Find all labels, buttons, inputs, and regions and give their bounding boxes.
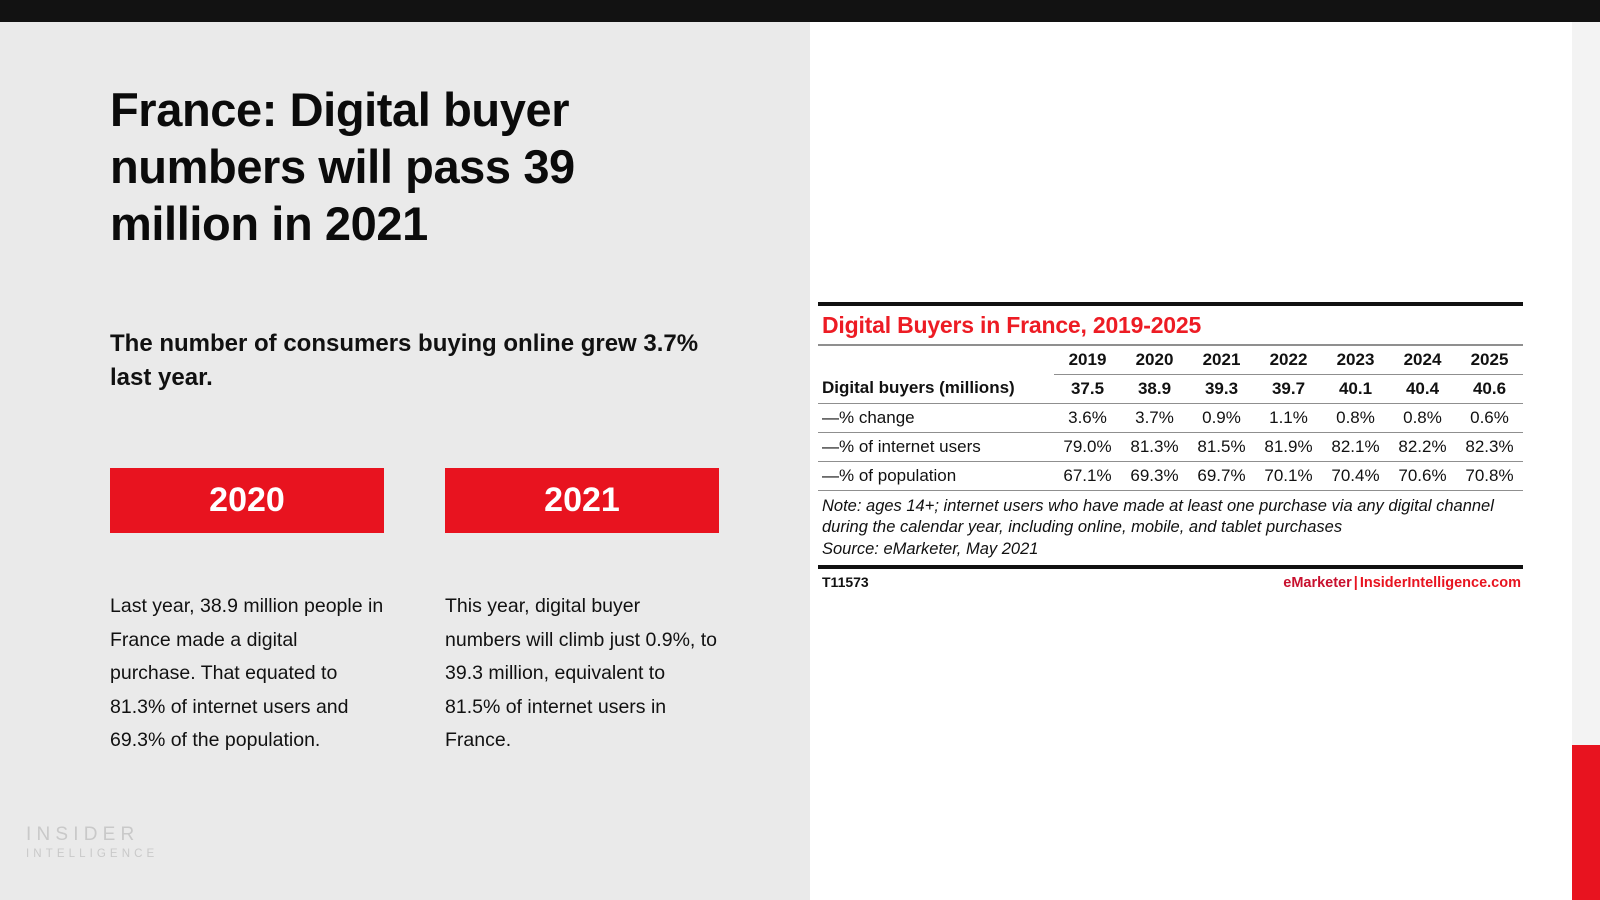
table-row: —% of internet users 79.0% 81.3% 81.5% 8… (818, 432, 1523, 461)
cell-pct-change-2021: 0.9% (1188, 403, 1255, 432)
table-col-header-2023: 2023 (1322, 346, 1389, 375)
table-row: —% of population 67.1% 69.3% 69.7% 70.1%… (818, 461, 1523, 490)
card-footer: T11573 eMarketer|InsiderIntelligence.com (818, 569, 1523, 591)
cell-digital-buyers-2020: 38.9 (1121, 374, 1188, 403)
cell-digital-buyers-2021: 39.3 (1188, 374, 1255, 403)
cell-digital-buyers-2023: 40.1 (1322, 374, 1389, 403)
table-header-row: 2019 2020 2021 2022 2023 2024 2025 (818, 346, 1523, 375)
cell-pct-population-2020: 69.3% (1121, 461, 1188, 490)
cell-pct-internet-users-2020: 81.3% (1121, 432, 1188, 461)
body-column-2021: This year, digital buyer numbers will cl… (445, 590, 719, 758)
cell-pct-internet-users-2022: 81.9% (1255, 432, 1322, 461)
table-col-header-2019: 2019 (1054, 346, 1121, 375)
cell-pct-internet-users-2021: 81.5% (1188, 432, 1255, 461)
body-column-group: Last year, 38.9 million people in France… (110, 590, 750, 758)
cell-pct-population-2024: 70.6% (1389, 461, 1456, 490)
cell-pct-change-2019: 3.6% (1054, 403, 1121, 432)
table-corner-cell (818, 346, 1054, 375)
table-row: Digital buyers (millions) 37.5 38.9 39.3… (818, 374, 1523, 403)
cell-pct-change-2020: 3.7% (1121, 403, 1188, 432)
logo-line-intelligence: INTELLIGENCE (26, 848, 158, 862)
row-label-pct-population: —% of population (818, 461, 1054, 490)
chart-id: T11573 (822, 574, 869, 590)
cell-pct-population-2022: 70.1% (1255, 461, 1322, 490)
brand-emarketer: eMarketer (1283, 575, 1352, 591)
chart-card: Digital Buyers in France, 2019-2025 2019… (818, 302, 1523, 591)
year-badge-2021: 2021 (445, 468, 719, 533)
year-badge-2020: 2020 (110, 468, 384, 533)
cell-pct-internet-users-2019: 79.0% (1054, 432, 1121, 461)
brand-separator: | (1352, 575, 1360, 591)
row-label-pct-change: —% change (818, 403, 1054, 432)
row-label-pct-internet-users: —% of internet users (818, 432, 1054, 461)
insider-intelligence-logo: INSIDER INTELLIGENCE (26, 825, 158, 862)
table-col-header-2022: 2022 (1255, 346, 1322, 375)
year-badge-group: 20202021 (110, 468, 750, 533)
chart-title: Digital Buyers in France, 2019-2025 (818, 306, 1523, 344)
table-col-header-2024: 2024 (1389, 346, 1456, 375)
table-head: 2019 2020 2021 2022 2023 2024 2025 (818, 346, 1523, 375)
cell-digital-buyers-2025: 40.6 (1456, 374, 1523, 403)
cell-pct-change-2023: 0.8% (1322, 403, 1389, 432)
cell-pct-population-2025: 70.8% (1456, 461, 1523, 490)
cell-digital-buyers-2019: 37.5 (1054, 374, 1121, 403)
chart-note: Note: ages 14+; internet users who have … (818, 491, 1523, 539)
table-body: Digital buyers (millions) 37.5 38.9 39.3… (818, 374, 1523, 490)
page-title: France: Digital buyer numbers will pass … (110, 82, 710, 253)
cell-pct-change-2025: 0.6% (1456, 403, 1523, 432)
chart-source: Source: eMarketer, May 2021 (818, 539, 1523, 565)
cell-pct-population-2019: 67.1% (1054, 461, 1121, 490)
table-col-header-2025: 2025 (1456, 346, 1523, 375)
top-black-bar (0, 0, 1600, 22)
table-col-header-2020: 2020 (1121, 346, 1188, 375)
table-row: —% change 3.6% 3.7% 0.9% 1.1% 0.8% 0.8% … (818, 403, 1523, 432)
slide-canvas: France: Digital buyer numbers will pass … (0, 0, 1600, 900)
page-subtitle: The number of consumers buying online gr… (110, 327, 710, 395)
table-col-header-2021: 2021 (1188, 346, 1255, 375)
right-edge-red-accent (1572, 745, 1600, 900)
cell-pct-change-2024: 0.8% (1389, 403, 1456, 432)
cell-digital-buyers-2024: 40.4 (1389, 374, 1456, 403)
cell-pct-internet-users-2025: 82.3% (1456, 432, 1523, 461)
cell-pct-population-2023: 70.4% (1322, 461, 1389, 490)
data-table: 2019 2020 2021 2022 2023 2024 2025 Digit… (818, 346, 1523, 491)
row-label-digital-buyers: Digital buyers (millions) (818, 374, 1054, 403)
logo-line-insider: INSIDER (26, 825, 158, 846)
body-column-2020: Last year, 38.9 million people in France… (110, 590, 384, 758)
cell-pct-population-2021: 69.7% (1188, 461, 1255, 490)
cell-pct-internet-users-2023: 82.1% (1322, 432, 1389, 461)
right-edge-gray-strip (1572, 22, 1600, 745)
cell-pct-internet-users-2024: 82.2% (1389, 432, 1456, 461)
cell-pct-change-2022: 1.1% (1255, 403, 1322, 432)
cell-digital-buyers-2022: 39.7 (1255, 374, 1322, 403)
brand-insiderintelligence: InsiderIntelligence.com (1360, 575, 1521, 591)
brand-attribution: eMarketer|InsiderIntelligence.com (1283, 575, 1521, 591)
